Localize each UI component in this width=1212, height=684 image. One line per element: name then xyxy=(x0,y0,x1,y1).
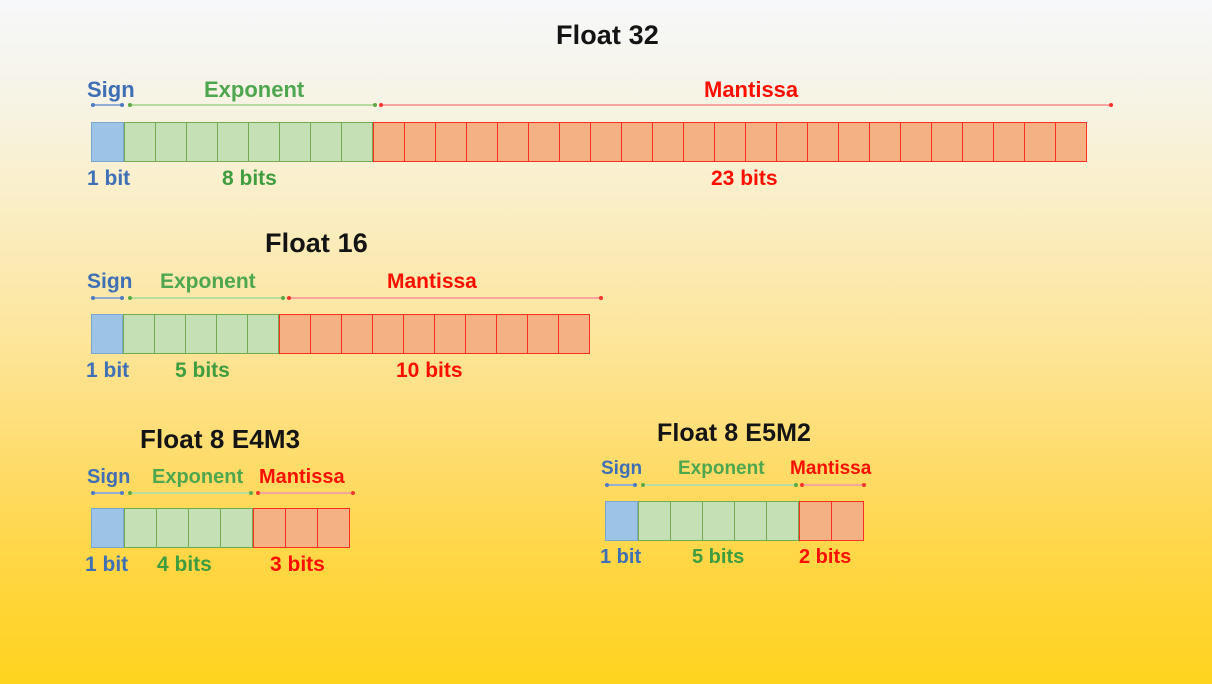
float8-e4m3-bit-field xyxy=(91,508,353,548)
float16-exponent-bit-cell xyxy=(216,314,248,354)
float32-exponent-bit-cell xyxy=(310,122,342,162)
float32-mantissa-bit-cell xyxy=(776,122,808,162)
float16-mantissa-bit-cell xyxy=(496,314,528,354)
float32-mantissa-bit-cell xyxy=(745,122,777,162)
float32-mantissa-bit-cell xyxy=(1024,122,1056,162)
float8-e5m2-sign-bit-cell xyxy=(605,501,638,541)
float8-e4m3-sign-label: Sign xyxy=(87,466,130,489)
float16-exponent-label: Exponent xyxy=(160,270,256,294)
float16-mantissa-bit-cell xyxy=(341,314,373,354)
float8-e4m3-exponent-bit-cell xyxy=(220,508,253,548)
float32-mantissa-bit-cell xyxy=(683,122,715,162)
float16-mantissa-bit-cell xyxy=(558,314,590,354)
float8-e5m2-mantissa-rule xyxy=(800,484,866,486)
float8-e5m2-mantissa-bits-label: 2 bits xyxy=(799,546,851,569)
float8-e4m3-mantissa-bit-cell xyxy=(253,508,286,548)
float16-exponent-bit-cell xyxy=(247,314,279,354)
float8-e4m3-mantissa-bit-cell xyxy=(317,508,350,548)
float16-sign-bits-label: 1 bit xyxy=(86,359,129,383)
float32-mantissa-bit-cell xyxy=(373,122,405,162)
float32-exponent-bit-cell xyxy=(341,122,373,162)
float32-mantissa-bit-cell xyxy=(838,122,870,162)
float8-e4m3-sign-bit-cell xyxy=(91,508,124,548)
float8-e5m2-exponent-bit-cell xyxy=(638,501,671,541)
float32-mantissa-bit-cell xyxy=(993,122,1025,162)
float16-exponent-bit-cell xyxy=(154,314,186,354)
float32-exponent-bit-cell xyxy=(248,122,280,162)
float8-e5m2-exponent-bit-cell xyxy=(702,501,735,541)
float32-mantissa-label: Mantissa xyxy=(704,77,798,103)
float8-e4m3-exponent-bit-cell xyxy=(124,508,157,548)
float32-mantissa-bit-cell xyxy=(559,122,591,162)
float32-exponent-bit-cell xyxy=(217,122,249,162)
float32-exponent-bit-cell xyxy=(155,122,187,162)
float16-title: Float 16 xyxy=(265,228,368,259)
float8-e5m2-mantissa-bit-cell xyxy=(831,501,864,541)
float32-mantissa-bit-cell xyxy=(931,122,963,162)
float32-mantissa-bit-cell xyxy=(497,122,529,162)
float8-e5m2-exponent-bit-cell xyxy=(734,501,767,541)
float8-e5m2-exponent-rule xyxy=(641,484,798,486)
float8-e4m3-sign-bits-label: 1 bit xyxy=(85,553,128,577)
float8-e4m3-mantissa-bit-cell xyxy=(285,508,318,548)
float16-mantissa-bit-cell xyxy=(465,314,497,354)
float8-e5m2-exponent-label: Exponent xyxy=(678,458,765,480)
float32-exponent-bit-cell xyxy=(279,122,311,162)
float32-sign-bit-cell xyxy=(91,122,124,162)
float8-e5m2-title: Float 8 E5M2 xyxy=(657,419,811,448)
float32-mantissa-bit-cell xyxy=(621,122,653,162)
float8-e4m3-title: Float 8 E4M3 xyxy=(140,424,300,455)
float8-e5m2-exponent-bit-cell xyxy=(670,501,703,541)
float32-mantissa-bit-cell xyxy=(404,122,436,162)
float8-e4m3-exponent-rule xyxy=(128,492,253,494)
float32-sign-label: Sign xyxy=(87,77,135,103)
float16-mantissa-bit-cell xyxy=(310,314,342,354)
float32-mantissa-bit-cell xyxy=(528,122,560,162)
float32-mantissa-bit-cell xyxy=(962,122,994,162)
float32-title: Float 32 xyxy=(556,20,659,51)
float32-exponent-label: Exponent xyxy=(204,77,304,103)
float8-e4m3-exponent-bit-cell xyxy=(188,508,221,548)
float8-e5m2-sign-label: Sign xyxy=(601,458,642,480)
float32-mantissa-bit-cell xyxy=(807,122,839,162)
float16-exponent-bit-cell xyxy=(123,314,155,354)
float32-mantissa-bit-cell xyxy=(435,122,467,162)
float16-sign-rule xyxy=(91,297,124,299)
float8-e5m2-bit-field xyxy=(605,501,866,541)
float8-e5m2-sign-rule xyxy=(605,484,637,486)
float8-e5m2-mantissa-bit-cell xyxy=(799,501,832,541)
float16-mantissa-bit-cell xyxy=(403,314,435,354)
float8-e4m3-mantissa-label: Mantissa xyxy=(259,466,345,489)
float8-e4m3-sign-rule xyxy=(91,492,124,494)
float8-e5m2-exponent-bits-label: 5 bits xyxy=(692,546,744,569)
float16-sign-bit-cell xyxy=(91,314,123,354)
float32-mantissa-bit-cell xyxy=(900,122,932,162)
float16-exponent-rule xyxy=(128,297,285,299)
float32-sign-rule xyxy=(91,104,124,106)
float16-mantissa-bit-cell xyxy=(372,314,404,354)
float8-e4m3-exponent-bit-cell xyxy=(156,508,189,548)
float32-bit-field xyxy=(91,122,1112,162)
float32-exponent-rule xyxy=(128,104,377,106)
float16-mantissa-label: Mantissa xyxy=(387,270,477,294)
float32-mantissa-bit-cell xyxy=(714,122,746,162)
float16-mantissa-bits-label: 10 bits xyxy=(396,359,463,383)
float8-e5m2-sign-bits-label: 1 bit xyxy=(600,546,641,569)
float32-exponent-bit-cell xyxy=(124,122,156,162)
float32-exponent-bits-label: 8 bits xyxy=(222,167,277,191)
float16-mantissa-bit-cell xyxy=(527,314,559,354)
float16-exponent-bit-cell xyxy=(185,314,217,354)
float8-e4m3-mantissa-bits-label: 3 bits xyxy=(270,553,325,577)
float16-exponent-bits-label: 5 bits xyxy=(175,359,230,383)
float8-e5m2-exponent-bit-cell xyxy=(766,501,799,541)
slide-canvas: Float 32 Sign Exponent Mantissa xyxy=(0,0,1212,684)
float16-mantissa-rule xyxy=(287,297,603,299)
float32-mantissa-bit-cell xyxy=(652,122,684,162)
float16-bit-field xyxy=(91,314,603,354)
float16-sign-label: Sign xyxy=(87,270,133,294)
float32-mantissa-bit-cell xyxy=(590,122,622,162)
float32-exponent-bit-cell xyxy=(186,122,218,162)
float8-e4m3-mantissa-rule xyxy=(256,492,355,494)
float16-mantissa-bit-cell xyxy=(279,314,311,354)
float32-mantissa-bit-cell xyxy=(1055,122,1087,162)
float8-e4m3-exponent-label: Exponent xyxy=(152,466,243,489)
float16-mantissa-bit-cell xyxy=(434,314,466,354)
float8-e5m2-mantissa-label: Mantissa xyxy=(790,458,871,480)
float32-mantissa-bits-label: 23 bits xyxy=(711,167,778,191)
float32-sign-bits-label: 1 bit xyxy=(87,167,130,191)
float8-e4m3-exponent-bits-label: 4 bits xyxy=(157,553,212,577)
float32-mantissa-bit-cell xyxy=(869,122,901,162)
float32-mantissa-rule xyxy=(379,104,1113,106)
float32-mantissa-bit-cell xyxy=(466,122,498,162)
